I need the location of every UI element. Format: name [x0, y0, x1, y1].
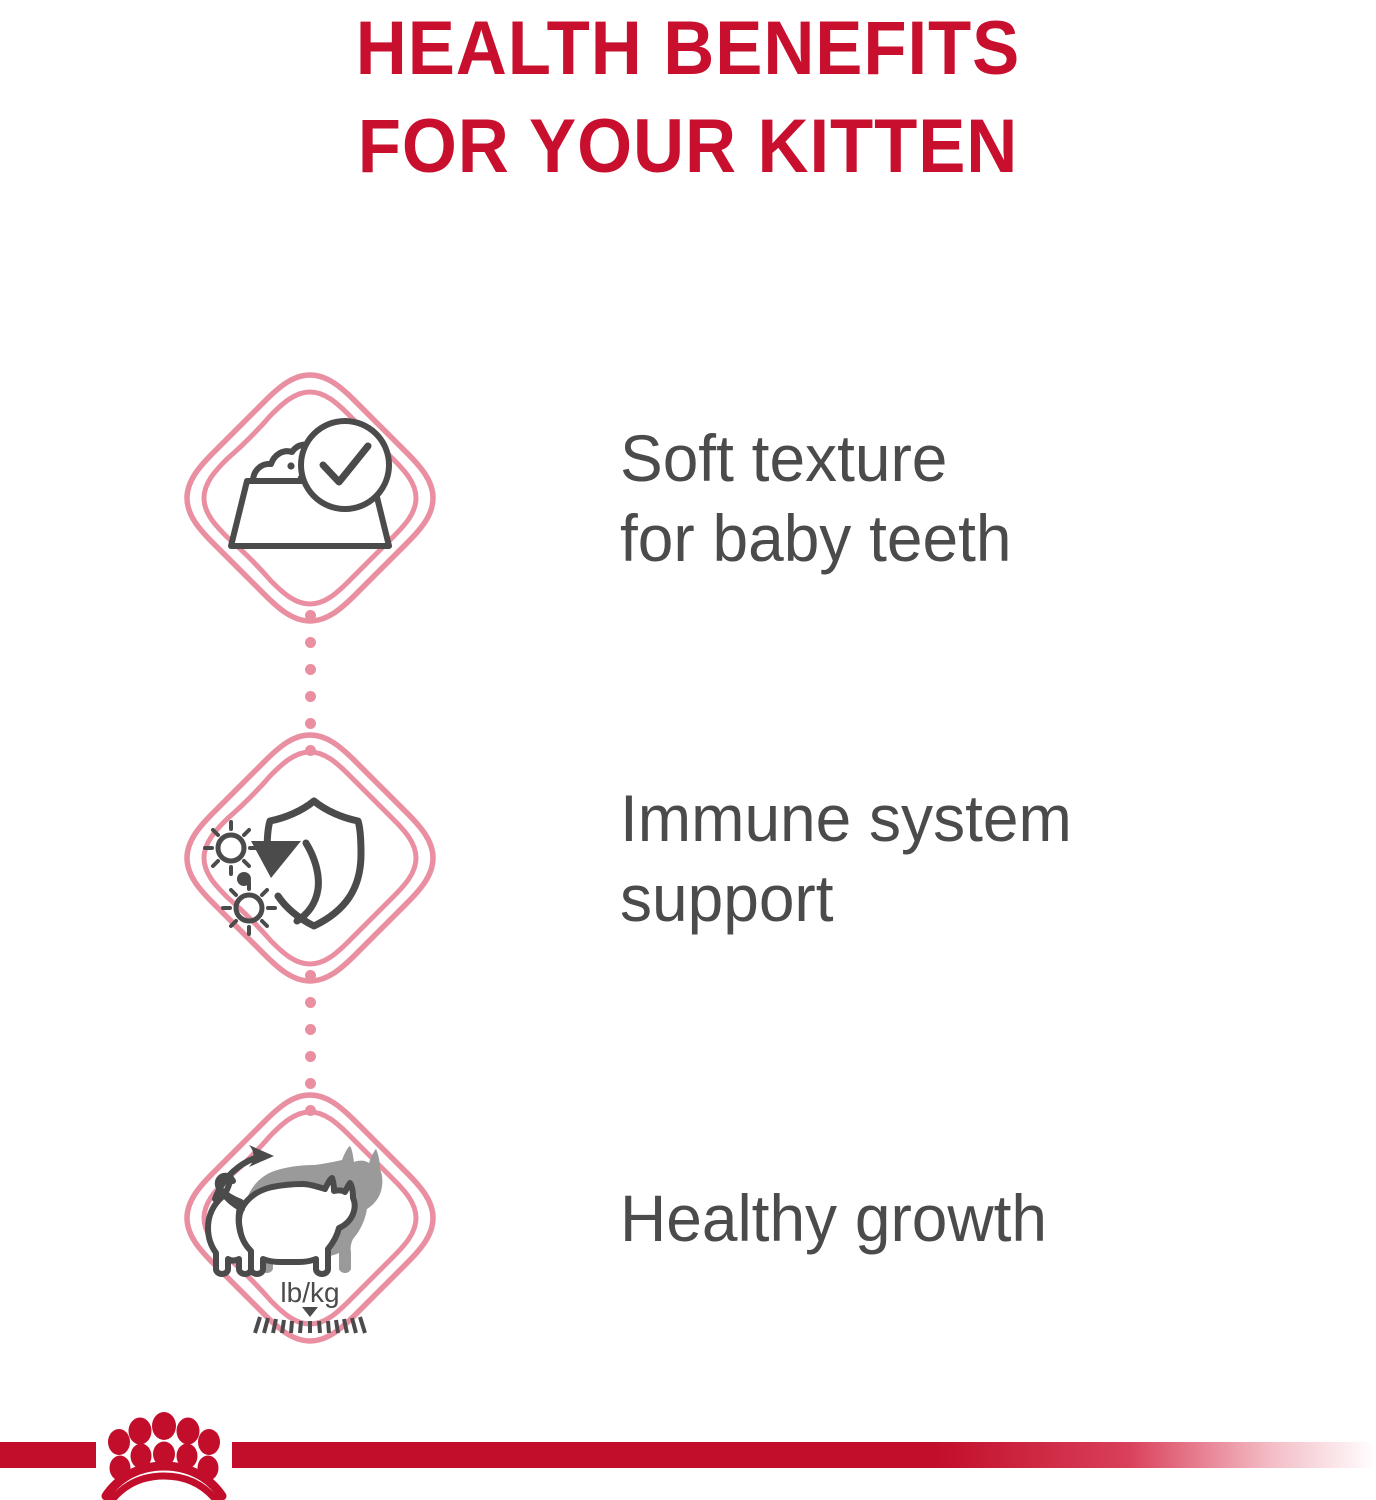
- benefit-row: lb/kg: [0, 1038, 1376, 1398]
- benefits-list: Soft texture for baby teeth: [0, 318, 1376, 1398]
- benefit-row: Soft texture for baby teeth: [0, 318, 1376, 678]
- benefit-label-container: Soft texture for baby teeth: [620, 418, 1376, 578]
- badge-container: [0, 318, 620, 678]
- royal-canin-crown-logo: [98, 1404, 230, 1500]
- title-line-1: HEALTH BENEFITS: [48, 0, 1328, 98]
- weight-unit-label: lb/kg: [280, 1277, 339, 1308]
- benefit-row: Immune system support: [0, 678, 1376, 1038]
- benefit-label: Healthy growth: [620, 1178, 1295, 1258]
- cat-growth-scale-icon: lb/kg: [175, 1083, 445, 1353]
- benefit-label: Immune system support: [620, 778, 1295, 938]
- benefit-label-container: Immune system support: [620, 778, 1376, 938]
- badge-container: [0, 678, 620, 1038]
- footer: [0, 1410, 1376, 1500]
- title-line-2: FOR YOUR KITTEN: [48, 98, 1328, 196]
- shield-immunity-icon: [175, 723, 445, 993]
- food-bowl-check-icon: [175, 363, 445, 633]
- benefit-label: Soft texture for baby teeth: [620, 418, 1295, 578]
- benefit-label-container: Healthy growth: [620, 1178, 1376, 1258]
- page-title: HEALTH BENEFITS FOR YOUR KITTEN: [0, 0, 1376, 196]
- badge-container: lb/kg: [0, 1038, 620, 1398]
